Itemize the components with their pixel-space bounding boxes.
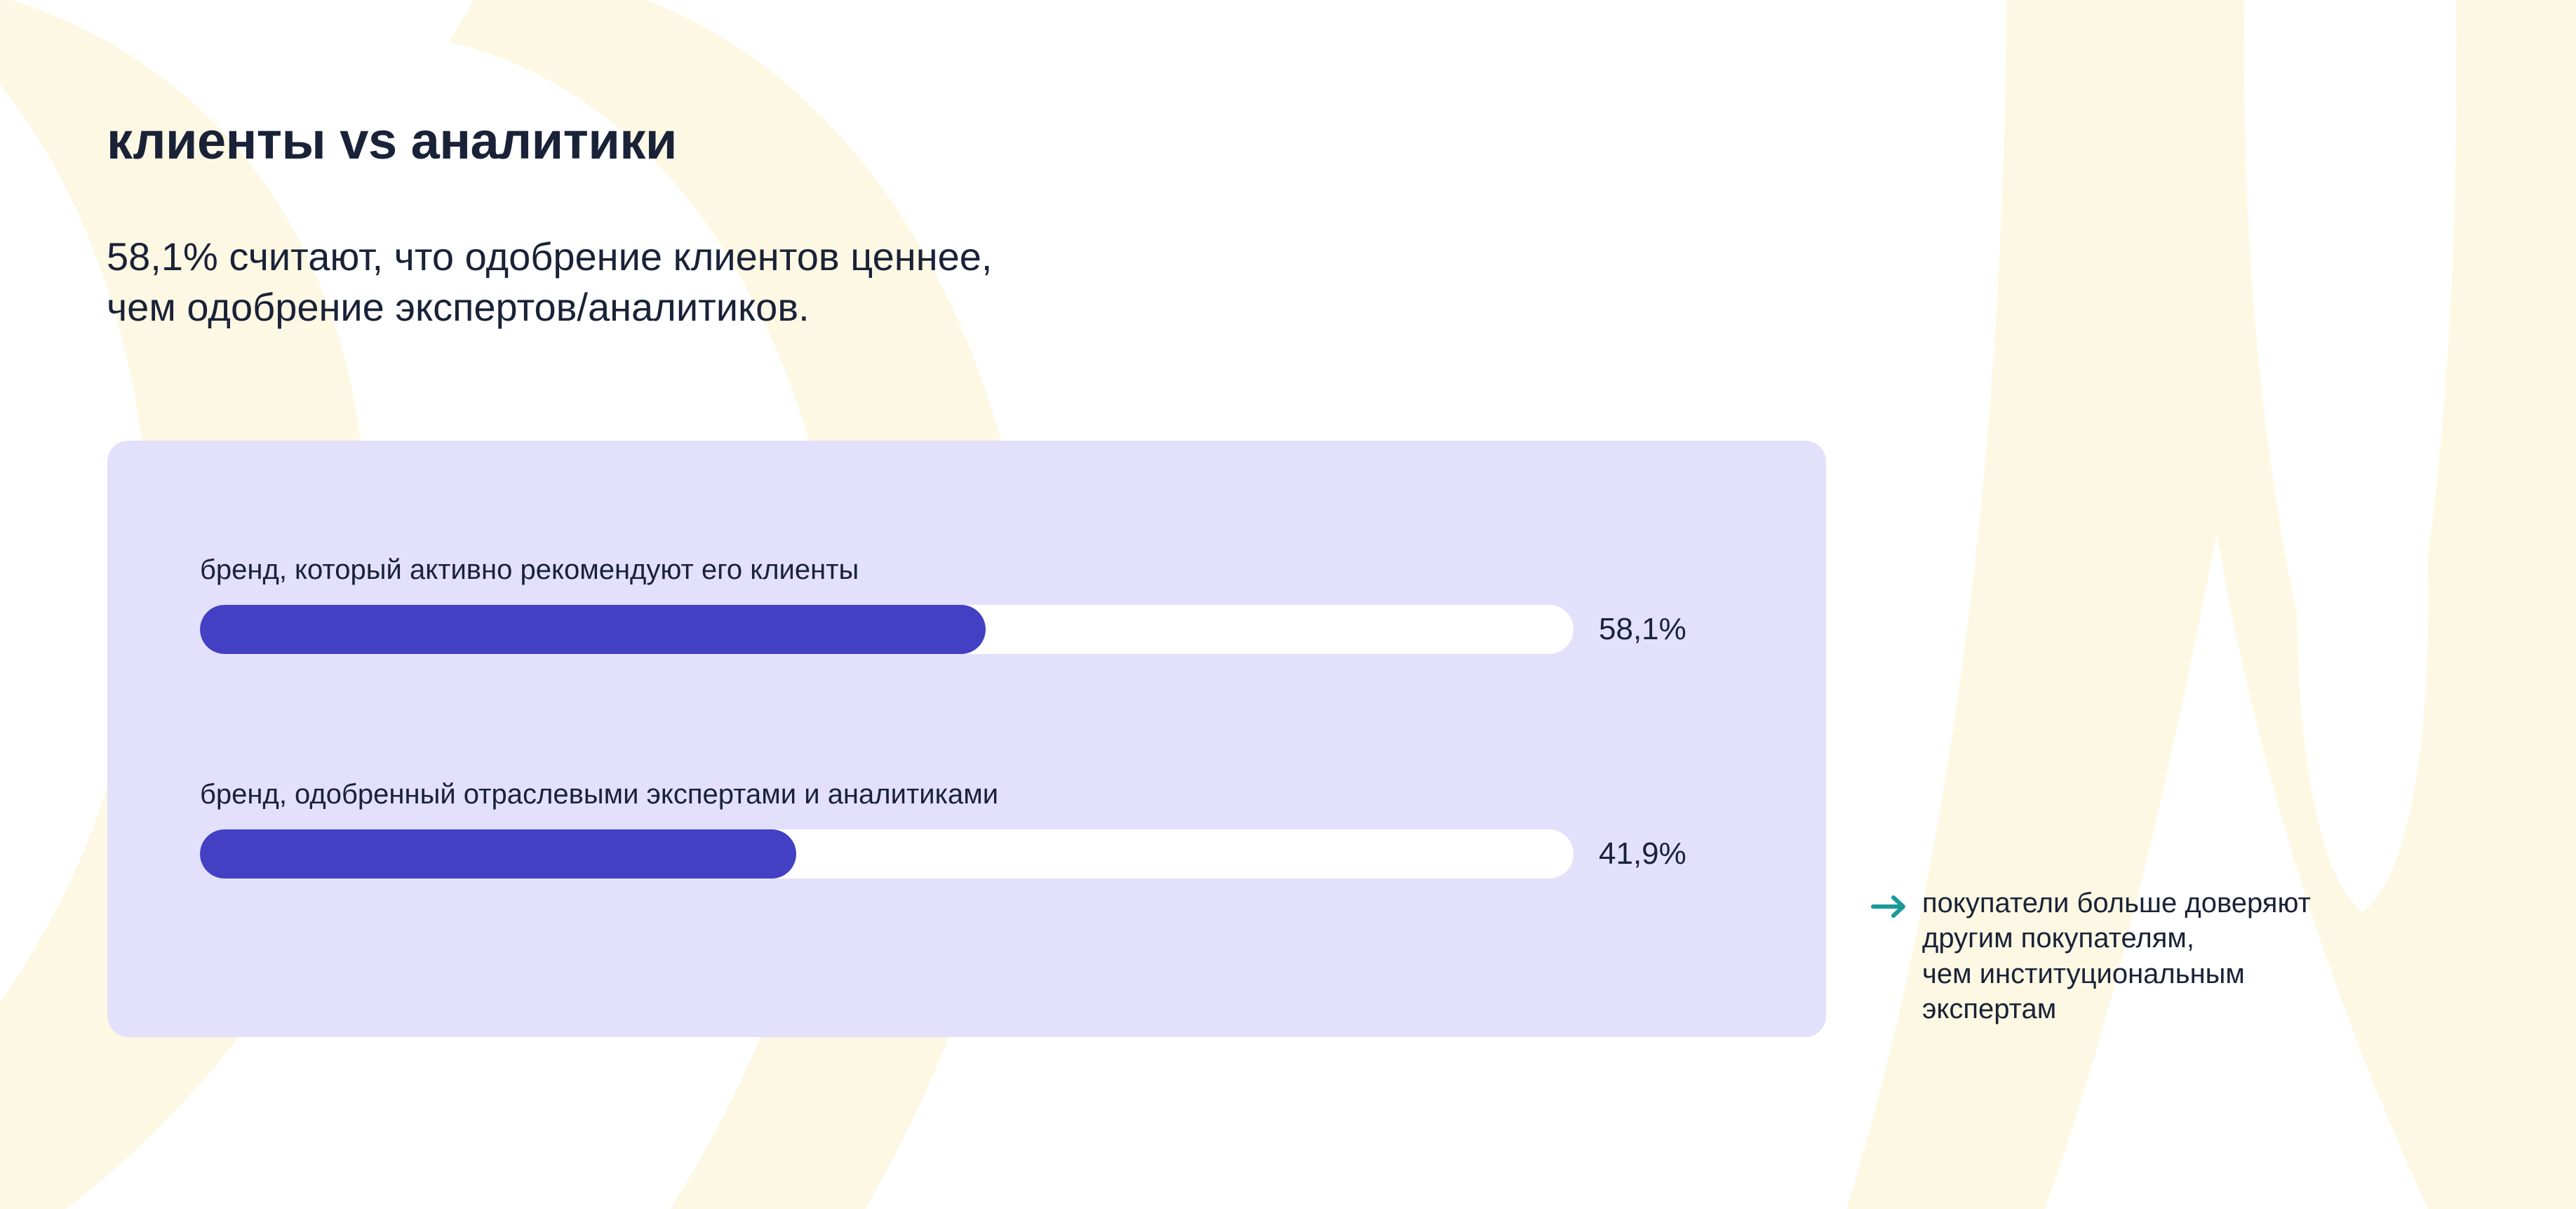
bar-label: бренд, который активно рекомендуют его к… (200, 553, 1736, 587)
bar-fill (200, 605, 986, 654)
bar-value-label: 58,1% (1599, 612, 1686, 647)
bar-row: 41,9% (200, 829, 1736, 879)
bar-value-label: 41,9% (1599, 836, 1686, 871)
annotation-callout: покупатели больше доверяют другим покупа… (1870, 886, 2311, 1027)
arrow-right-icon (1870, 891, 1910, 922)
chart-card: бренд, который активно рекомендуют его к… (107, 441, 1826, 1037)
annotation-line: чем институциональным (1922, 956, 2311, 991)
annotation-line: покупатели больше доверяют (1922, 886, 2311, 921)
bar-row: 58,1% (200, 605, 1736, 654)
bar-track (200, 605, 1574, 654)
annotation-text: покупатели больше доверяют другим покупа… (1922, 886, 2311, 1027)
subtitle-line-1: 58,1% считают, что одобрение клиентов це… (107, 232, 993, 282)
subtitle: 58,1% считают, что одобрение клиентов це… (107, 232, 993, 332)
page-title: клиенты vs аналитики (107, 114, 677, 168)
annotation-line: экспертам (1922, 991, 2311, 1027)
bar-track (200, 829, 1574, 879)
annotation-line: другим покупателям, (1922, 921, 2311, 956)
bar-label: бренд, одобренный отраслевыми экспертами… (200, 777, 1736, 811)
bar-group: бренд, который активно рекомендуют его к… (200, 553, 1736, 654)
bar-fill (200, 829, 796, 879)
slide-content: клиенты vs аналитики 58,1% считают, что … (0, 0, 2576, 1209)
subtitle-line-2: чем одобрение экспертов/аналитиков. (107, 282, 993, 333)
bar-group: бренд, одобренный отраслевыми экспертами… (200, 777, 1736, 879)
